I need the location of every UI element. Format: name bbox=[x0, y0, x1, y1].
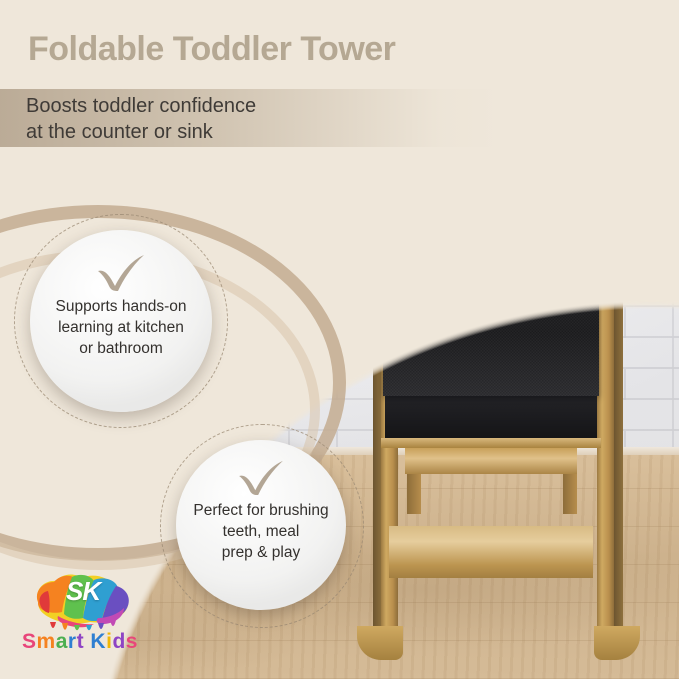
wordmark-letter: S bbox=[22, 630, 37, 654]
tower-foot-left bbox=[357, 626, 403, 660]
tower-foot-right bbox=[594, 626, 640, 660]
toddler-brow-right bbox=[526, 72, 548, 76]
tower-step bbox=[405, 448, 577, 474]
toddler-hair bbox=[446, 0, 582, 64]
tower-safety-bar bbox=[367, 166, 635, 184]
wordmark-letter: a bbox=[56, 630, 68, 654]
callout-2-line-2: teeth, meal bbox=[193, 521, 328, 542]
subtitle-line-2: at the counter or sink bbox=[26, 119, 446, 145]
monogram-sk: SK bbox=[66, 576, 100, 607]
toddler-tower-product bbox=[345, 140, 655, 660]
tower-hook-right bbox=[633, 170, 659, 196]
tower-step-leg-right bbox=[563, 470, 577, 514]
page-title: Foldable Toddler Tower bbox=[28, 30, 395, 69]
wordmark-letter: r bbox=[68, 630, 77, 654]
infographic-canvas: Foldable Toddler Tower Boosts toddler co… bbox=[0, 0, 679, 679]
callout-1-line-3: or bathroom bbox=[56, 338, 187, 359]
callout-text-2: Perfect for brushing teeth, meal prep & … bbox=[193, 500, 328, 563]
tower-platform-lip bbox=[381, 438, 601, 448]
toddler-nose bbox=[506, 96, 522, 106]
wordmark-letter: m bbox=[37, 630, 56, 654]
callout-1-line-1: Supports hands-on bbox=[56, 296, 187, 317]
tower-platform bbox=[385, 396, 597, 440]
callout-bubble-2[interactable]: Perfect for brushing teeth, meal prep & … bbox=[176, 440, 346, 610]
wordmark-letter: t bbox=[77, 630, 85, 654]
check-icon bbox=[95, 252, 147, 292]
tower-step-leg-left bbox=[407, 470, 421, 514]
subtitle: Boosts toddler confidence at the counter… bbox=[26, 93, 446, 145]
tower-knob-left bbox=[347, 170, 369, 177]
wordmark-letter: d bbox=[112, 630, 125, 654]
callout-1-line-2: learning at kitchen bbox=[56, 317, 187, 338]
callout-text-1: Supports hands-on learning at kitchen or… bbox=[56, 296, 187, 359]
subtitle-line-1: Boosts toddler confidence bbox=[26, 93, 446, 119]
toddler-eye-right bbox=[530, 82, 543, 93]
callout-bubble-1[interactable]: Supports hands-on learning at kitchen or… bbox=[30, 230, 212, 412]
toddler-brow-left bbox=[474, 72, 496, 76]
callout-2-line-1: Perfect for brushing bbox=[193, 500, 328, 521]
chalkboard-panel bbox=[383, 236, 599, 396]
wordmark-letter: s bbox=[126, 630, 138, 654]
check-icon bbox=[236, 458, 286, 496]
tower-crossbar bbox=[389, 526, 593, 578]
wordmark-letter: K bbox=[90, 630, 106, 654]
callout-2-line-3: prep & play bbox=[193, 542, 328, 563]
brand-logo[interactable]: SK Smart Kids bbox=[22, 568, 152, 668]
brand-wordmark: Smart Kids bbox=[22, 630, 152, 654]
